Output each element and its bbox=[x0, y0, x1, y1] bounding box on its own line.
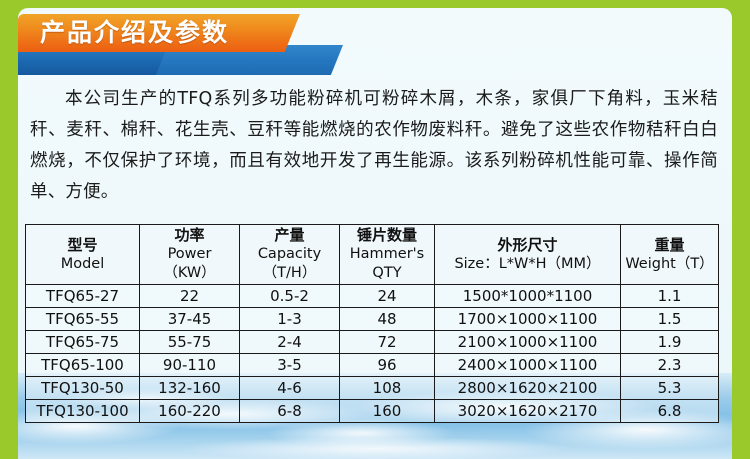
table-row: TFQ65-55 37-45 1-3 48 1700×1000×1100 1.5 bbox=[26, 308, 719, 331]
cell-capacity: 3-5 bbox=[240, 354, 340, 377]
table-row: TFQ65-100 90-110 3-5 96 2400×1000×1100 2… bbox=[26, 354, 719, 377]
cell-model: TFQ130-100 bbox=[26, 400, 140, 423]
header-cn-hammer: 锤片数量 bbox=[340, 226, 434, 245]
header-en-size: Size：L*W*H（MM） bbox=[435, 255, 620, 274]
cell-hammer: 72 bbox=[340, 331, 435, 354]
table-row: TFQ65-75 55-75 2-4 72 2100×1000×1100 1.9 bbox=[26, 331, 719, 354]
header-cell-power: 功率 Power （KW） bbox=[140, 225, 240, 285]
cell-weight: 1.1 bbox=[621, 285, 719, 308]
header-cell-model: 型号 Model bbox=[26, 225, 140, 285]
header-cell-weight: 重量 Weight（T） bbox=[621, 225, 719, 285]
cell-power: 132-160 bbox=[140, 377, 240, 400]
cell-weight: 1.9 bbox=[621, 331, 719, 354]
cell-weight: 1.5 bbox=[621, 308, 719, 331]
header-unit-capacity: （T/H） bbox=[240, 264, 339, 283]
header-en-weight: Weight（T） bbox=[621, 255, 718, 274]
cell-hammer: 108 bbox=[340, 377, 435, 400]
cell-weight: 6.8 bbox=[621, 400, 719, 423]
spec-table-container: 型号 Model 功率 Power （KW） 产量 Capacity （T/H） bbox=[25, 224, 718, 423]
cell-size: 3020×1620×2170 bbox=[435, 400, 621, 423]
header-unit-power: （KW） bbox=[140, 264, 239, 283]
cell-capacity: 4-6 bbox=[240, 377, 340, 400]
cell-power: 37-45 bbox=[140, 308, 240, 331]
cell-power: 55-75 bbox=[140, 331, 240, 354]
content-panel: 产品介绍及参数 本公司生产的TFQ系列多功能粉碎机可粉碎木屑，木条，家俱厂下角料… bbox=[18, 8, 732, 459]
header-cell-capacity: 产量 Capacity （T/H） bbox=[240, 225, 340, 285]
cell-power: 160-220 bbox=[140, 400, 240, 423]
header-en-capacity: Capacity bbox=[240, 245, 339, 264]
header-cn-capacity: 产量 bbox=[240, 226, 339, 245]
cell-size: 1500*1000*1100 bbox=[435, 285, 621, 308]
spec-table: 型号 Model 功率 Power （KW） 产量 Capacity （T/H） bbox=[25, 224, 719, 423]
cell-power: 22 bbox=[140, 285, 240, 308]
intro-paragraph: 本公司生产的TFQ系列多功能粉碎机可粉碎木屑，木条，家俱厂下角料，玉米秸秆、麦秆… bbox=[30, 84, 718, 208]
cell-capacity: 6-8 bbox=[240, 400, 340, 423]
table-body: TFQ65-27 22 0.5-2 24 1500*1000*1100 1.1 … bbox=[26, 285, 719, 423]
cell-capacity: 1-3 bbox=[240, 308, 340, 331]
header-cn-model: 型号 bbox=[26, 236, 139, 255]
header-en-power: Power bbox=[140, 245, 239, 264]
cell-model: TFQ65-100 bbox=[26, 354, 140, 377]
table-row: TFQ130-50 132-160 4-6 108 2800×1620×2100… bbox=[26, 377, 719, 400]
table-row: TFQ65-27 22 0.5-2 24 1500*1000*1100 1.1 bbox=[26, 285, 719, 308]
cell-hammer: 96 bbox=[340, 354, 435, 377]
table-header-row: 型号 Model 功率 Power （KW） 产量 Capacity （T/H） bbox=[26, 225, 719, 285]
header-cn-size: 外形尺寸 bbox=[435, 236, 620, 255]
cell-power: 90-110 bbox=[140, 354, 240, 377]
cell-size: 2800×1620×2100 bbox=[435, 377, 621, 400]
section-banner: 产品介绍及参数 bbox=[18, 8, 732, 80]
header-en-model: Model bbox=[26, 255, 139, 274]
cell-weight: 2.3 bbox=[621, 354, 719, 377]
header-en-hammer: Hammer's bbox=[340, 245, 434, 264]
cell-capacity: 2-4 bbox=[240, 331, 340, 354]
header-unit-hammer: QTY bbox=[340, 264, 434, 283]
header-cn-weight: 重量 bbox=[621, 236, 718, 255]
header-cell-size: 外形尺寸 Size：L*W*H（MM） bbox=[435, 225, 621, 285]
cell-model: TFQ130-50 bbox=[26, 377, 140, 400]
cell-capacity: 0.5-2 bbox=[240, 285, 340, 308]
header-cn-power: 功率 bbox=[140, 226, 239, 245]
cell-size: 2100×1000×1100 bbox=[435, 331, 621, 354]
header-cell-hammer: 锤片数量 Hammer's QTY bbox=[340, 225, 435, 285]
cell-size: 2400×1000×1100 bbox=[435, 354, 621, 377]
cell-model: TFQ65-75 bbox=[26, 331, 140, 354]
cell-weight: 5.3 bbox=[621, 377, 719, 400]
cell-model: TFQ65-27 bbox=[26, 285, 140, 308]
cell-hammer: 24 bbox=[340, 285, 435, 308]
table-row: TFQ130-100 160-220 6-8 160 3020×1620×217… bbox=[26, 400, 719, 423]
section-title: 产品介绍及参数 bbox=[40, 17, 229, 49]
cell-hammer: 48 bbox=[340, 308, 435, 331]
cell-hammer: 160 bbox=[340, 400, 435, 423]
cell-size: 1700×1000×1100 bbox=[435, 308, 621, 331]
cell-model: TFQ65-55 bbox=[26, 308, 140, 331]
product-spec-page: 产品介绍及参数 本公司生产的TFQ系列多功能粉碎机可粉碎木屑，木条，家俱厂下角料… bbox=[0, 0, 750, 459]
